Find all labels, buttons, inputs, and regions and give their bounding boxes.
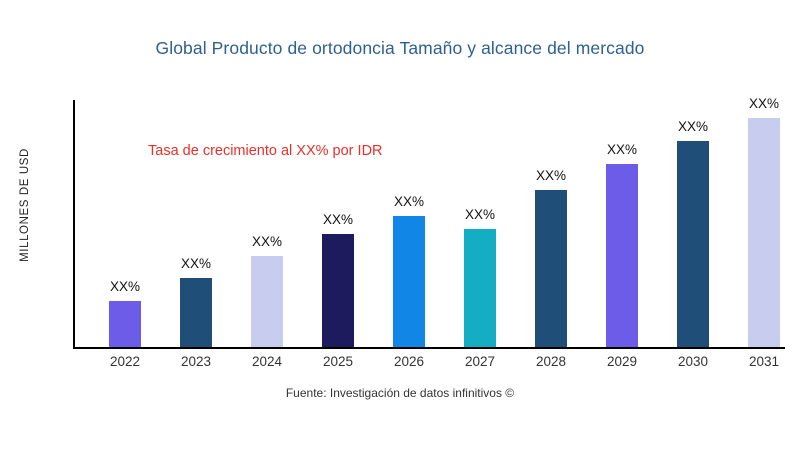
- bar-2022[interactable]: XX%: [109, 301, 141, 347]
- bar-value-label: XX%: [252, 234, 282, 249]
- bar-value-label: XX%: [536, 168, 566, 183]
- bar-2025[interactable]: XX%: [322, 234, 354, 347]
- bar-value-label: XX%: [181, 256, 211, 271]
- bar-value-label: XX%: [678, 119, 708, 134]
- source-note: Fuente: Investigación de datos infinitiv…: [0, 386, 800, 400]
- bar-value-label: XX%: [465, 207, 495, 222]
- bar-2030[interactable]: XX%: [677, 141, 709, 347]
- y-axis-label-wrapper: MILLONES DE USD: [12, 80, 38, 330]
- x-tick-2031: 2031: [729, 354, 799, 369]
- x-tick-2029: 2029: [587, 354, 657, 369]
- bar-2031[interactable]: XX%: [748, 118, 780, 347]
- bar-2029[interactable]: XX%: [606, 164, 638, 347]
- x-tick-2023: 2023: [161, 354, 231, 369]
- bar-2026[interactable]: XX%: [393, 216, 425, 347]
- plot-area: XX%XX%XX%XX%XX%XX%XX%XX%XX%XX%: [73, 100, 785, 349]
- x-tick-2026: 2026: [374, 354, 444, 369]
- bar-value-label: XX%: [323, 212, 353, 227]
- bar-2028[interactable]: XX%: [535, 190, 567, 347]
- bar-2024[interactable]: XX%: [251, 256, 283, 347]
- y-axis-label: MILLONES DE USD: [19, 148, 31, 262]
- bar-2027[interactable]: XX%: [464, 229, 496, 347]
- x-tick-2030: 2030: [658, 354, 728, 369]
- bar-value-label: XX%: [394, 194, 424, 209]
- x-tick-2022: 2022: [90, 354, 160, 369]
- chart-container: Global Producto de ortodoncia Tamaño y a…: [0, 0, 800, 450]
- x-tick-2025: 2025: [303, 354, 373, 369]
- growth-rate-annotation: Tasa de crecimiento al XX% por IDR: [148, 143, 383, 159]
- bar-value-label: XX%: [607, 142, 637, 157]
- x-tick-2028: 2028: [516, 354, 586, 369]
- x-tick-2027: 2027: [445, 354, 515, 369]
- bar-value-label: XX%: [749, 96, 779, 111]
- x-axis-line: [73, 347, 785, 349]
- bar-2023[interactable]: XX%: [180, 278, 212, 347]
- bar-value-label: XX%: [110, 279, 140, 294]
- x-tick-2024: 2024: [232, 354, 302, 369]
- y-axis-line: [73, 100, 75, 349]
- chart-title: Global Producto de ortodoncia Tamaño y a…: [0, 38, 800, 59]
